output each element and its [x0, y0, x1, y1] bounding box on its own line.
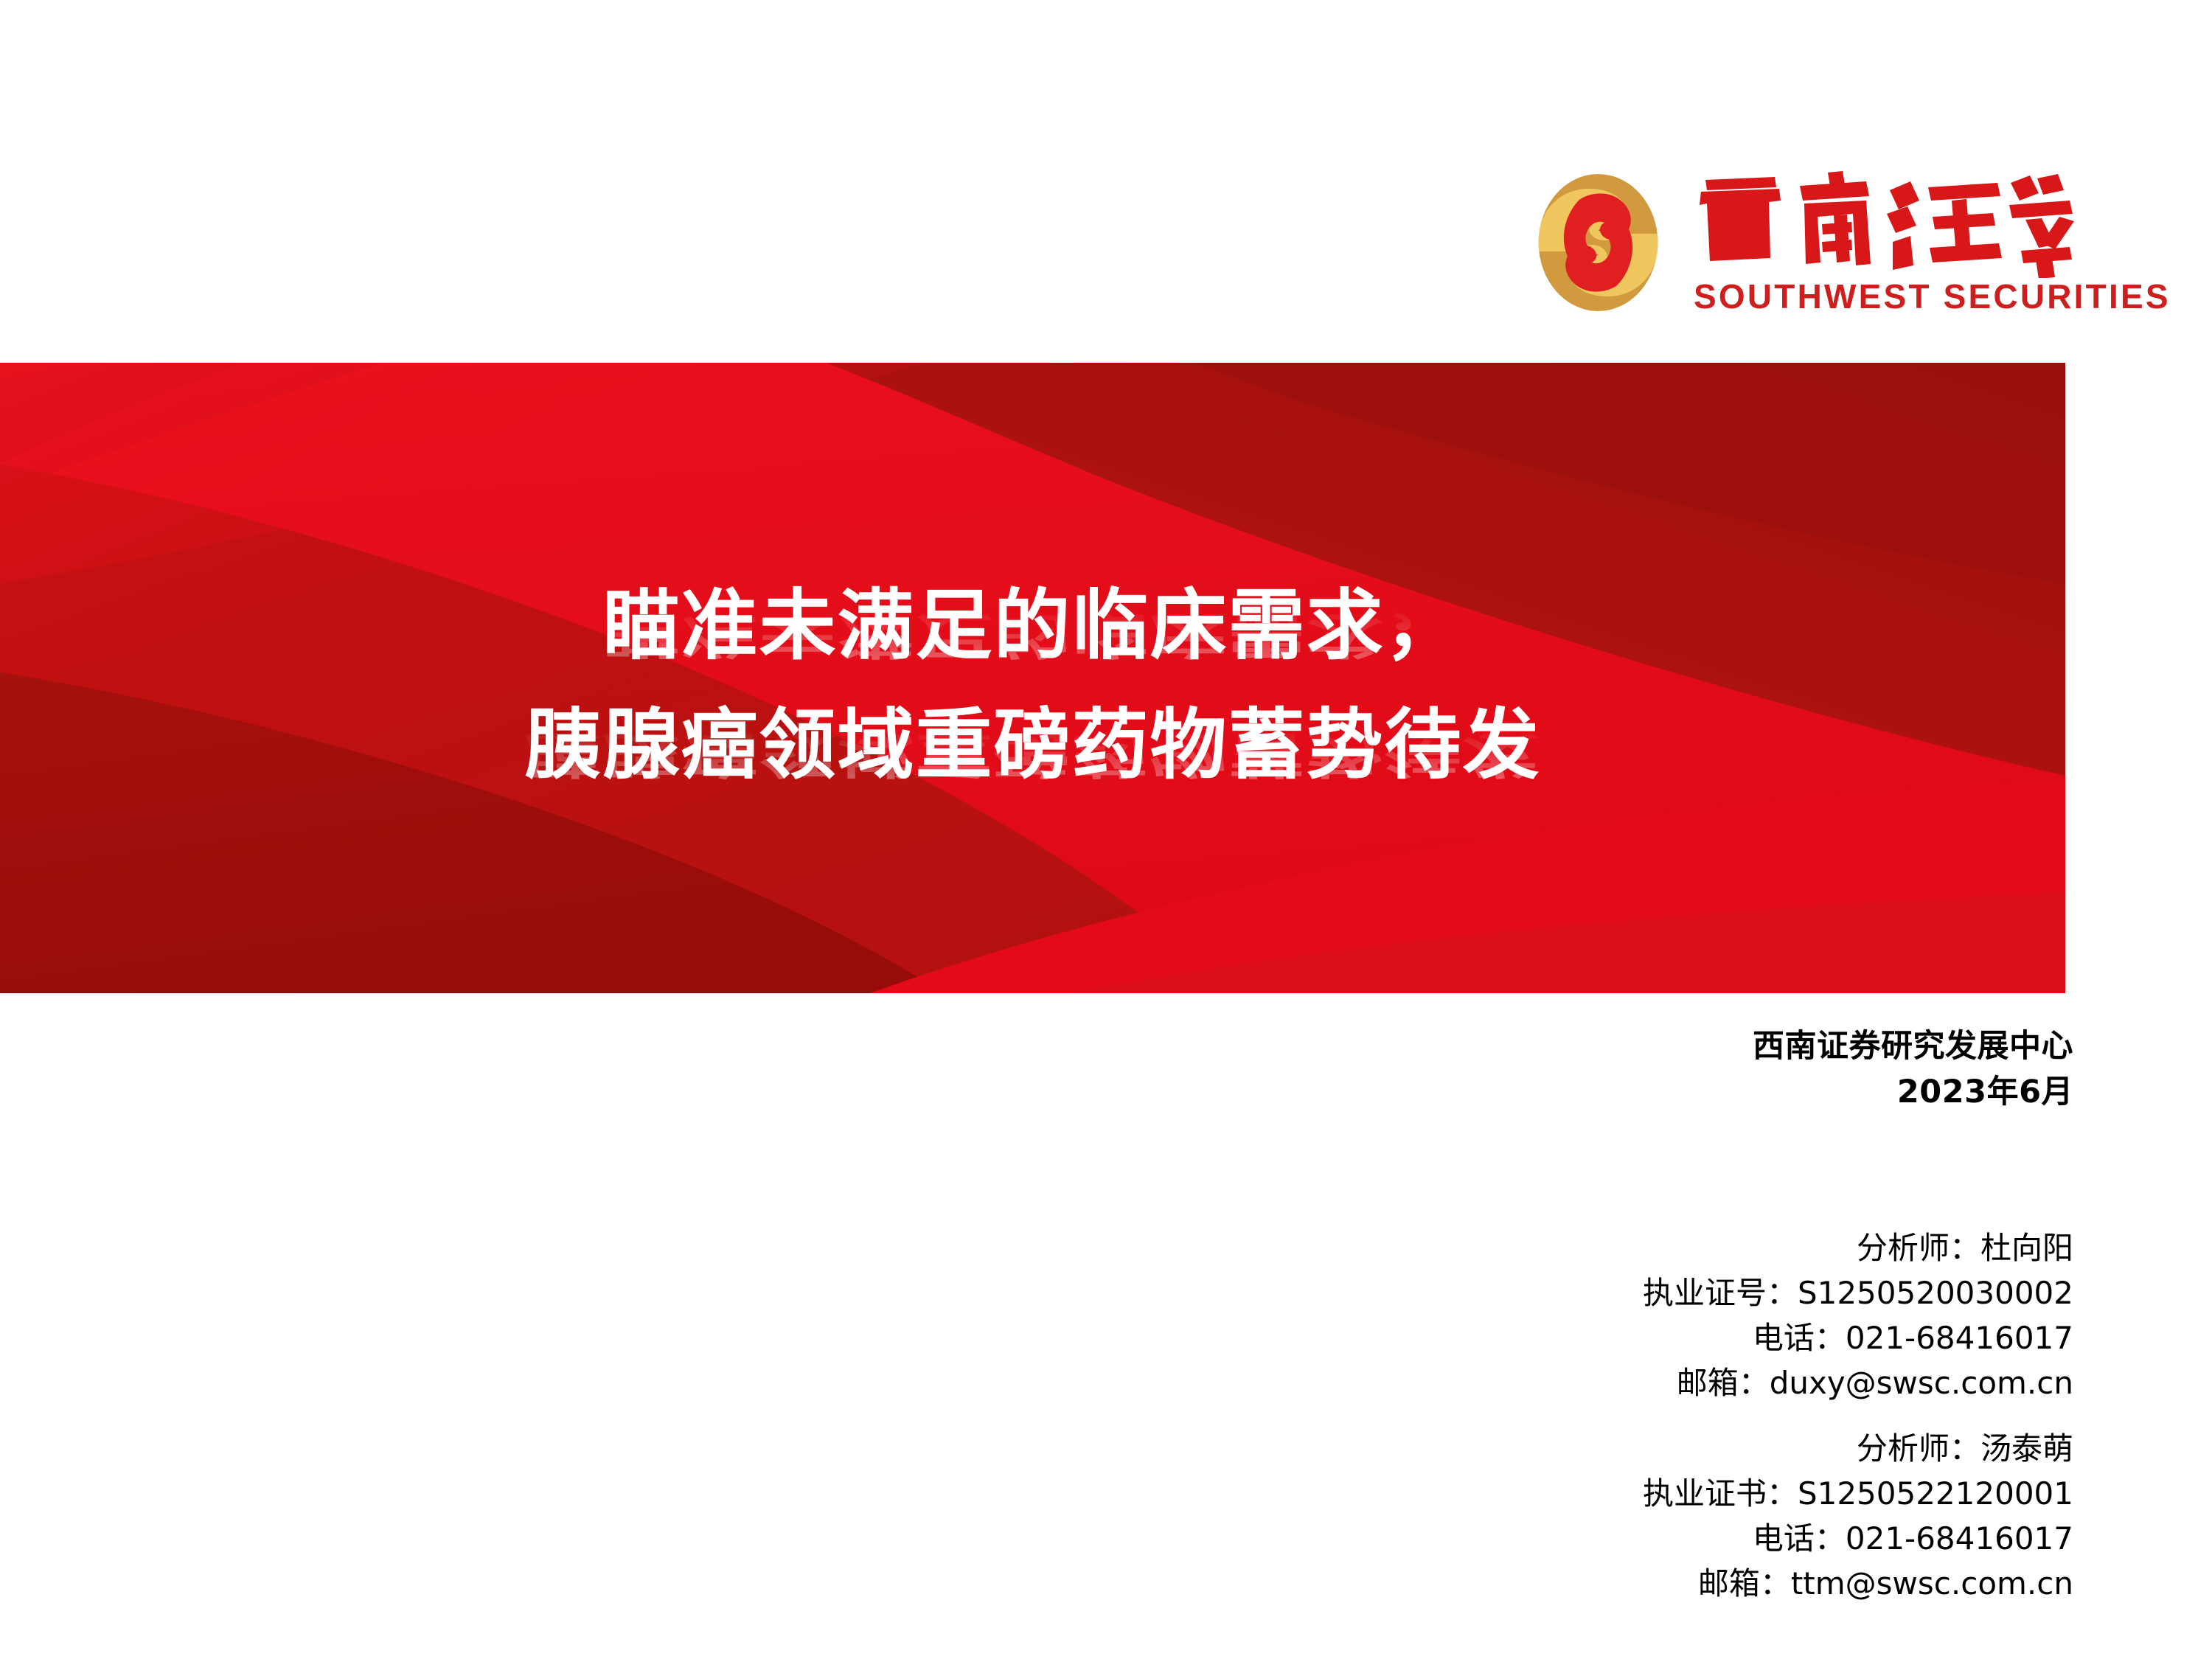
title-line-2: 胰腺癌领域重磅药物蓄势待发 胰腺癌领域重磅药物蓄势待发 — [524, 689, 1540, 800]
banner-title-group: 瞄准未满足的临床需求， 瞄准未满足的临床需求， 胰腺癌领域重磅药物蓄势待发 胰腺… — [0, 363, 2065, 993]
title-line-2-text: 胰腺癌领域重磅药物蓄势待发 — [524, 689, 1540, 800]
analyst-license: 执业证书：S1250522120001 — [1032, 1471, 2073, 1516]
title-line-1: 瞄准未满足的临床需求， 瞄准未满足的临床需求， — [602, 570, 1462, 681]
analyst-entry: 分析师：汤泰萌 执业证书：S1250522120001 电话：021-68416… — [1032, 1426, 2073, 1606]
analyst-entry: 分析师：杜向阳 执业证号：S1250520030002 电话：021-68416… — [1032, 1225, 2073, 1405]
analyst-email: 邮箱：duxy@swsc.com.cn — [1032, 1360, 2073, 1405]
report-date: 2023年6月 — [1106, 1069, 2073, 1115]
title-banner: 瞄准未满足的临床需求， 瞄准未满足的临床需求， 胰腺癌领域重磅药物蓄势待发 胰腺… — [0, 363, 2065, 993]
department-block: 西南证券研究发展中心 2023年6月 — [1106, 1023, 2073, 1115]
wordmark-en-label: SOUTHWEST SECURITIES — [1694, 276, 2077, 316]
southwest-securities-swirl-logo-icon — [1537, 173, 1659, 313]
analyst-email: 邮箱：ttm@swsc.com.cn — [1032, 1561, 2073, 1606]
analyst-phone: 电话：021-68416017 — [1032, 1516, 2073, 1561]
analyst-phone: 电话：021-68416017 — [1032, 1315, 2073, 1360]
department-name: 西南证券研究发展中心 — [1106, 1023, 2073, 1069]
title-line-1-text: 瞄准未满足的临床需求， — [602, 570, 1462, 681]
analyst-name: 分析师：杜向阳 — [1032, 1225, 2073, 1270]
analyst-license: 执业证号：S1250520030002 — [1032, 1270, 2073, 1315]
wordmark-cn-xinan-zhengquan — [1692, 171, 2076, 278]
analyst-name: 分析师：汤泰萌 — [1032, 1426, 2073, 1471]
analyst-info-block: 分析师：杜向阳 执业证号：S1250520030002 电话：021-68416… — [1032, 1225, 2073, 1627]
brand-logo: SOUTHWEST SECURITIES — [1537, 171, 2076, 319]
